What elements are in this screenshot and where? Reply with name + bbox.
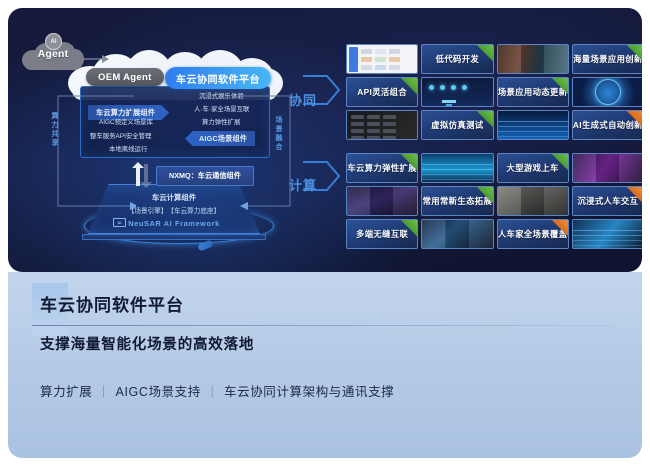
feature-thumbnail-card[interactable] [421, 77, 493, 107]
feature-thumbnail-card[interactable] [497, 186, 569, 216]
game-scene-thumb [498, 45, 568, 73]
dark-console-thumb [347, 111, 417, 139]
feature-thumbnail-card[interactable] [421, 219, 493, 249]
agent-ai-badge-icon: AI [45, 33, 62, 50]
summary-divider [32, 325, 612, 326]
corner-ribbon-orange-icon [626, 111, 642, 128]
agent-connector-arrow [80, 52, 110, 66]
corner-ribbon-green-icon [476, 187, 493, 204]
agent-cloud: AI Agent [22, 42, 84, 70]
corner-ribbon-orange-icon [626, 187, 642, 204]
driver-hud-thumb [573, 220, 642, 248]
category-collaboration-label: 协同 [289, 90, 317, 109]
box-item-elastic: 算力弹性扩展 [202, 120, 240, 126]
scene-fusion-vertical-label: 场景融合 [275, 116, 282, 152]
platform-title-pill[interactable]: 车云协同软件平台 [165, 67, 271, 89]
corner-ribbon-green-icon [400, 220, 417, 237]
slide-root: AI Agent OEM Agent ↔ 车云协同软件平台 车云算力扩展组件 A… [0, 0, 650, 466]
gaming-cockpit-thumb [573, 154, 642, 182]
multi-screen-thumb [422, 220, 492, 248]
feature-thumbnail-card[interactable] [497, 44, 569, 74]
category-compute-label: 计算 [289, 175, 317, 194]
feature-thumbnail-card[interactable] [572, 219, 642, 249]
summary-tag: 车云协同计算架构与通讯支撑 [224, 385, 394, 399]
network-nodes-thumb [422, 78, 492, 106]
dashboard-screen-thumb [347, 187, 417, 215]
ui-dashboard-thumb [347, 45, 417, 73]
aigc-wave-thumb [498, 111, 568, 139]
feature-thumbnail-card[interactable] [421, 153, 493, 183]
corner-ribbon-orange-icon [551, 220, 568, 237]
left-bracket-connector [54, 94, 136, 210]
summary-subtitle: 支撑海量智能化场景的高效落地 [40, 333, 254, 354]
feature-card[interactable]: 虚拟仿真测试 [421, 110, 493, 140]
feature-thumbnail-card[interactable] [346, 44, 418, 74]
bidirectional-arrow-icon: ↔ [148, 74, 156, 84]
cloud-car-thumb [422, 154, 492, 182]
tag-separator: ｜ [92, 385, 115, 399]
car-interior-thumb [498, 187, 568, 215]
feature-card[interactable]: API灵活组合 [346, 77, 418, 107]
laptop-base-bar [82, 234, 266, 240]
neusar-logo-icon: AI [113, 218, 126, 227]
summary-tag: 算力扩展 [40, 385, 92, 399]
feature-card-label: 低代码开发 [436, 53, 480, 65]
architecture-diagram-panel: AI Agent OEM Agent ↔ 车云协同软件平台 车云算力扩展组件 A… [8, 8, 642, 272]
feature-thumbnail-card[interactable] [346, 186, 418, 216]
summary-tag: AIGC场景支持 [116, 385, 201, 399]
feature-card[interactable]: 场景应用动态更新 [497, 77, 569, 107]
collaboration-card-grid: 低代码开发海量场景应用创新API灵活组合场景应用动态更新虚拟仿真测试AI生成式自… [346, 44, 642, 140]
feature-card[interactable]: 常用常新生态拓展 [421, 186, 493, 216]
feature-card[interactable]: 车云算力弹性扩展 [346, 153, 418, 183]
tag-separator: ｜ [201, 385, 224, 399]
feature-card[interactable]: 大型游戏上车 [497, 153, 569, 183]
corner-ribbon-green-icon [476, 111, 493, 128]
summary-title: 车云协同软件平台 [40, 291, 184, 316]
data-sphere-thumb [573, 78, 642, 106]
compute-sharing-vertical-label: 算力共享 [51, 112, 58, 148]
compute-card-grid: 车云算力弹性扩展大型游戏上车常用常新生态拓展沉浸式人车交互多端无缝互联人车家全场… [346, 153, 642, 249]
feature-card[interactable]: 低代码开发 [421, 44, 493, 74]
nxmq-communication-component-pill[interactable]: NXMQ：车云通信组件 [156, 166, 254, 186]
corner-ribbon-green-icon [400, 78, 417, 95]
summary-tags: 算力扩展｜AIGC场景支持｜车云协同计算架构与通讯支撑 [40, 381, 394, 400]
corner-ribbon-green-icon [626, 45, 642, 62]
feature-thumbnail-card[interactable] [346, 110, 418, 140]
corner-ribbon-green-icon [551, 154, 568, 171]
feature-card[interactable]: AI生成式自动创新 [572, 110, 642, 140]
feature-thumbnail-card[interactable] [572, 77, 642, 107]
feature-card[interactable]: 海量场景应用创新 [572, 44, 642, 74]
corner-ribbon-green-icon [476, 45, 493, 62]
corner-ribbon-green-icon [551, 78, 568, 95]
feature-card[interactable]: 沉浸式人车交互 [572, 186, 642, 216]
feature-thumbnail-card[interactable] [497, 110, 569, 140]
feature-thumbnail-card[interactable] [572, 153, 642, 183]
corner-ribbon-green-icon [400, 154, 417, 171]
sync-arrows-icon [130, 162, 154, 188]
feature-card[interactable]: 多端无缝互联 [346, 219, 418, 249]
feature-card[interactable]: 人车家全场景覆盖 [497, 219, 569, 249]
